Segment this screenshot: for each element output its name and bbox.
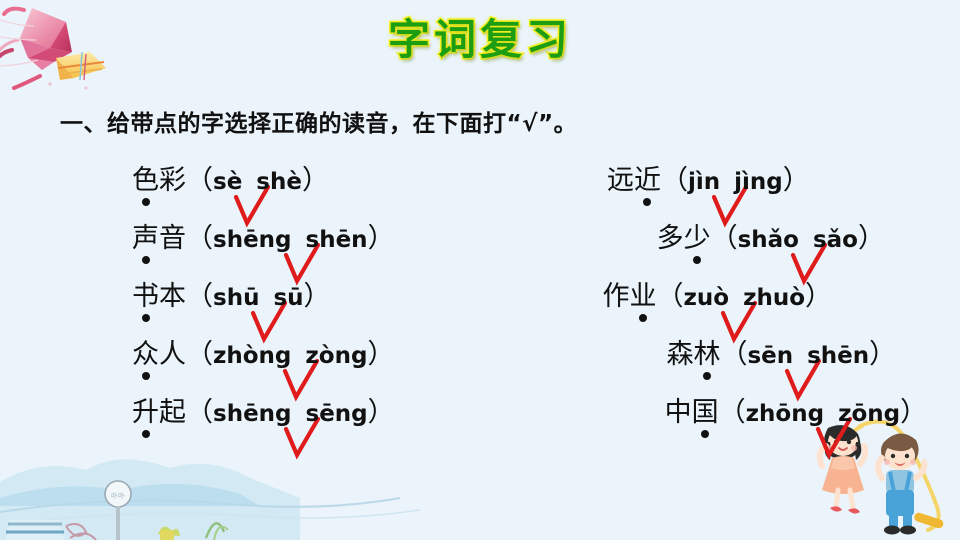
word-characters: 色彩 bbox=[132, 165, 186, 196]
open-paren: （ bbox=[186, 281, 213, 312]
pinyin-option[interactable]: shēn bbox=[306, 227, 368, 253]
character: 本 bbox=[159, 274, 186, 313]
character: 中 bbox=[665, 390, 692, 429]
open-paren: （ bbox=[186, 397, 213, 428]
pinyin-option[interactable]: shǎo bbox=[738, 227, 799, 253]
close-paren: ） bbox=[368, 397, 395, 428]
dotted-character: 近 bbox=[634, 158, 661, 197]
character: 人 bbox=[159, 332, 186, 371]
option-gap bbox=[242, 174, 256, 193]
exercise-item[interactable]: 书本（shū sū） bbox=[132, 274, 331, 313]
pinyin-option[interactable]: sǎo bbox=[813, 227, 858, 253]
open-paren: （ bbox=[657, 281, 684, 312]
pinyin-option[interactable]: sè bbox=[213, 169, 242, 195]
option-gap bbox=[793, 348, 807, 367]
close-paren: ） bbox=[302, 165, 329, 196]
close-paren: ） bbox=[368, 223, 395, 254]
exercise-item[interactable]: 众人（zhòng zòng） bbox=[132, 332, 394, 371]
open-paren: （ bbox=[661, 165, 688, 196]
pinyin-option[interactable]: shēng bbox=[213, 227, 292, 253]
option-gap bbox=[729, 290, 743, 309]
close-paren: ） bbox=[805, 281, 832, 312]
option-gap bbox=[292, 232, 306, 251]
open-paren: （ bbox=[719, 397, 746, 428]
pinyin-option[interactable]: sēn bbox=[747, 343, 793, 369]
word-characters: 升起 bbox=[132, 397, 186, 428]
pinyin-option[interactable]: shè bbox=[256, 169, 302, 195]
exercise-row: 书本（shū sū）作业（zuò zhuò） bbox=[132, 274, 892, 332]
dotted-character: 升 bbox=[132, 390, 159, 429]
dotted-character: 声 bbox=[132, 216, 159, 255]
pinyin-option[interactable]: jìng bbox=[734, 169, 783, 195]
option-gap bbox=[824, 406, 838, 425]
open-paren: （ bbox=[186, 339, 213, 370]
character: 彩 bbox=[159, 158, 186, 197]
exercise-item[interactable]: 森林（sēn shēn） bbox=[666, 332, 896, 371]
word-characters: 多少 bbox=[657, 223, 711, 254]
word-characters: 远近 bbox=[607, 165, 661, 196]
pinyin-option[interactable]: shū bbox=[213, 285, 259, 311]
pinyin-option[interactable]: zòng bbox=[305, 343, 367, 369]
exercise-item[interactable]: 远近（jìn jìng） bbox=[607, 158, 810, 197]
dotted-character: 业 bbox=[630, 274, 657, 313]
pinyin-option[interactable]: zhuò bbox=[743, 285, 805, 311]
exercise-item[interactable]: 色彩（sè shè） bbox=[132, 158, 329, 197]
word-characters: 众人 bbox=[132, 339, 186, 370]
pinyin-option[interactable]: zhòng bbox=[213, 343, 291, 369]
option-gap bbox=[720, 174, 734, 193]
exercise-row: 众人（zhòng zòng）森林（sēn shēn） bbox=[132, 332, 892, 390]
open-paren: （ bbox=[186, 165, 213, 196]
exercise-item[interactable]: 升起（shēng sēng） bbox=[132, 390, 395, 429]
exercise-list: 色彩（sè shè）远近（jìn jìng）声音（shēng shēn）多少（s… bbox=[132, 158, 892, 448]
pinyin-option[interactable]: shēn bbox=[807, 343, 869, 369]
word-characters: 作业 bbox=[603, 281, 657, 312]
word-characters: 森林 bbox=[666, 339, 720, 370]
pinyin-option[interactable]: zōng bbox=[838, 401, 900, 427]
dotted-character: 众 bbox=[132, 332, 159, 371]
dotted-character: 国 bbox=[692, 390, 719, 429]
word-characters: 中国 bbox=[665, 397, 719, 428]
svg-text:卟卟: 卟卟 bbox=[111, 491, 125, 500]
character: 远 bbox=[607, 158, 634, 197]
exercise-row: 声音（shēng shēn）多少（shǎo sǎo） bbox=[132, 216, 892, 274]
exercise-item[interactable]: 声音（shēng shēn） bbox=[132, 216, 395, 255]
character: 森 bbox=[666, 332, 693, 371]
open-paren: （ bbox=[186, 223, 213, 254]
exercise-item[interactable]: 多少（shǎo sǎo） bbox=[657, 216, 885, 255]
character: 起 bbox=[159, 390, 186, 429]
pinyin-option[interactable]: zuò bbox=[684, 285, 730, 311]
pinyin-option[interactable]: sū bbox=[273, 285, 303, 311]
pinyin-option[interactable]: zhōng bbox=[746, 401, 824, 427]
option-gap bbox=[259, 290, 273, 309]
close-paren: ） bbox=[304, 281, 331, 312]
close-paren: ） bbox=[900, 397, 927, 428]
option-gap bbox=[799, 232, 813, 251]
character: 多 bbox=[657, 216, 684, 255]
slide-canvas: 卟卟 bbox=[0, 0, 960, 540]
exercise-item[interactable]: 作业（zuò zhuò） bbox=[603, 274, 833, 313]
pinyin-option[interactable]: sēng bbox=[306, 401, 368, 427]
dotted-character: 书 bbox=[132, 274, 159, 313]
dotted-character: 色 bbox=[132, 158, 159, 197]
character: 音 bbox=[159, 216, 186, 255]
close-paren: ） bbox=[858, 223, 885, 254]
open-paren: （ bbox=[720, 339, 747, 370]
page-title: 字词复习 bbox=[388, 6, 572, 67]
exercise-row: 升起（shēng sēng）中国（zhōng zōng） bbox=[132, 390, 892, 448]
dotted-character: 林 bbox=[693, 332, 720, 371]
pinyin-option[interactable]: jìn bbox=[688, 169, 720, 195]
exercise-row: 色彩（sè shè）远近（jìn jìng） bbox=[132, 158, 892, 216]
word-characters: 声音 bbox=[132, 223, 186, 254]
close-paren: ） bbox=[367, 339, 394, 370]
close-paren: ） bbox=[869, 339, 896, 370]
character: 作 bbox=[603, 274, 630, 313]
option-gap bbox=[292, 406, 306, 425]
close-paren: ） bbox=[783, 165, 810, 196]
slide-title: 字词复习 bbox=[0, 6, 960, 67]
dotted-character: 少 bbox=[684, 216, 711, 255]
instruction-text: 一、给带点的字选择正确的读音，在下面打“√”。 bbox=[60, 104, 577, 138]
open-paren: （ bbox=[711, 223, 738, 254]
exercise-item[interactable]: 中国（zhōng zōng） bbox=[665, 390, 927, 429]
pinyin-option[interactable]: shēng bbox=[213, 401, 292, 427]
option-gap bbox=[291, 348, 305, 367]
word-characters: 书本 bbox=[132, 281, 186, 312]
